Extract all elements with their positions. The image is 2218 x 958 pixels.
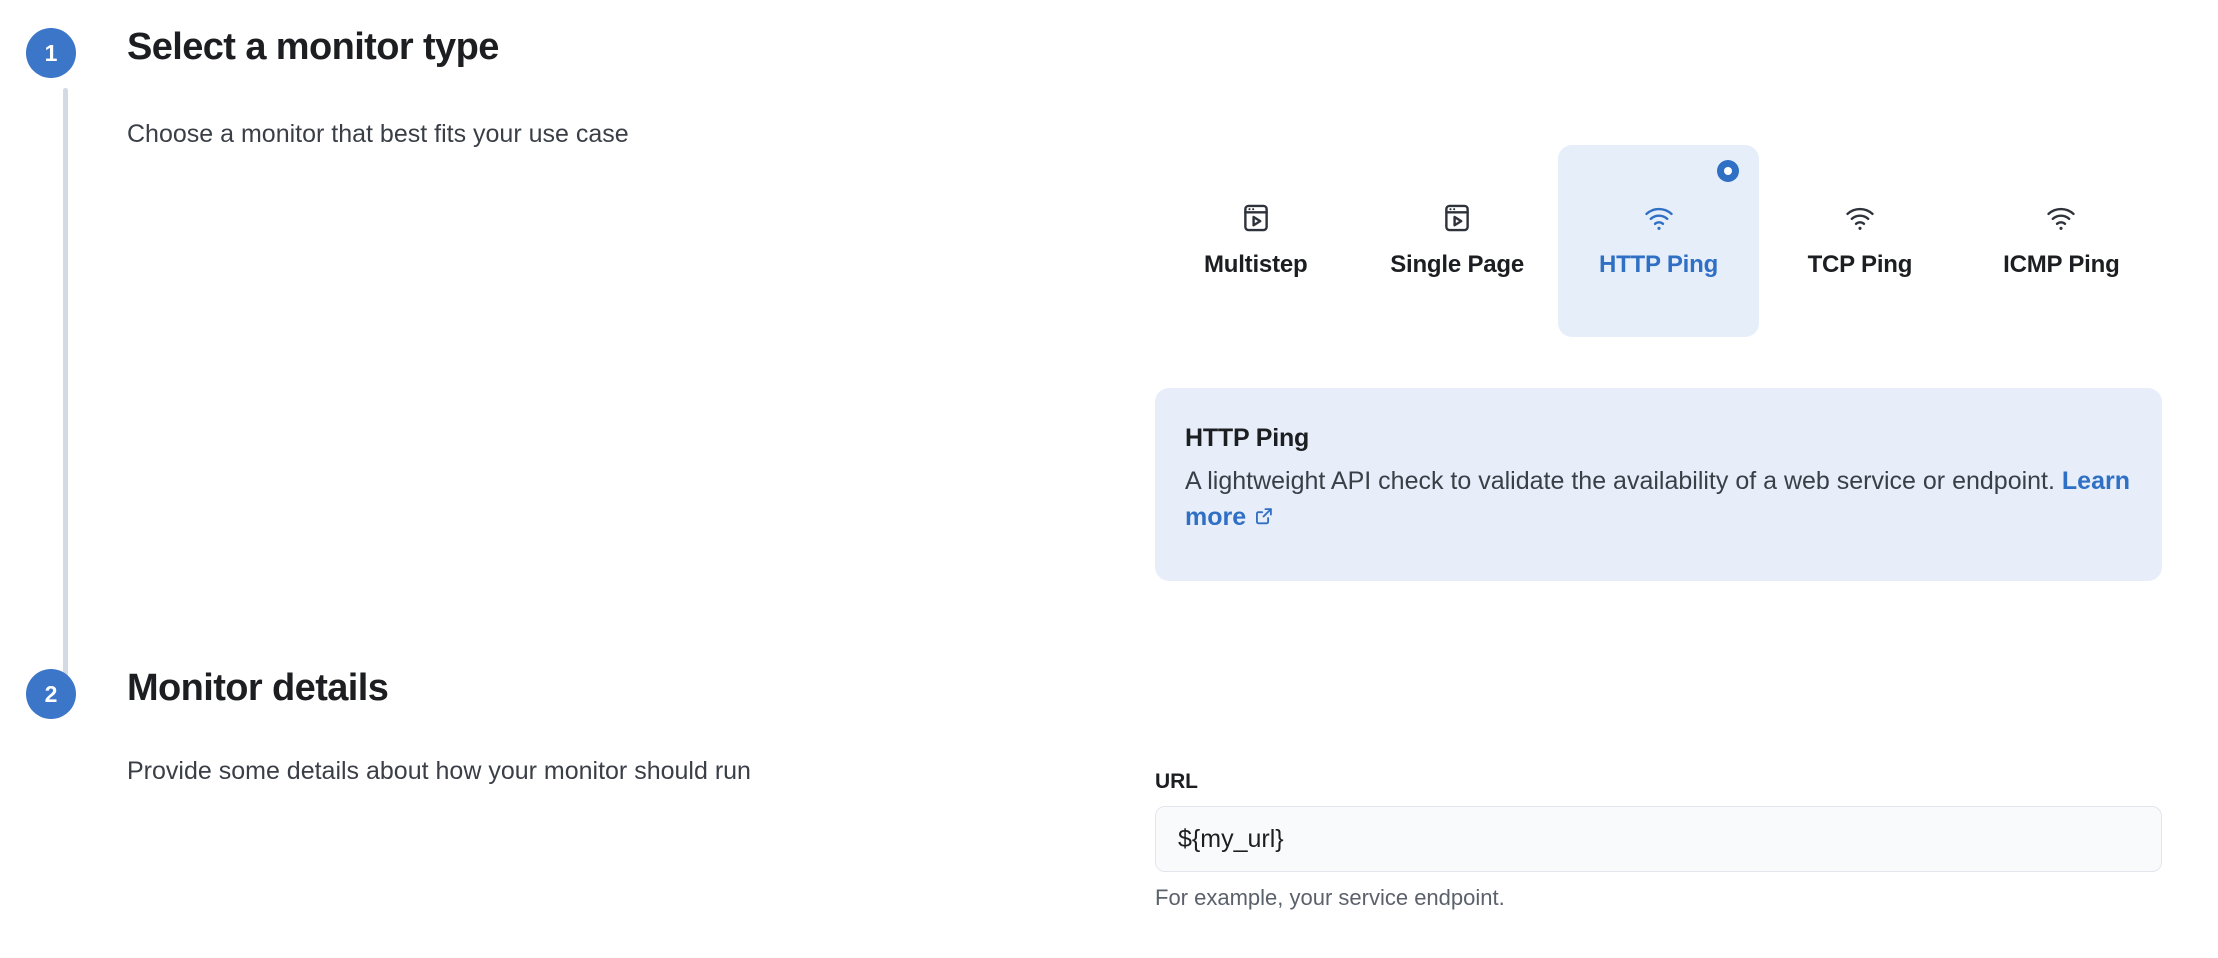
monitor-type-option-single-page[interactable]: Single Page (1356, 145, 1557, 337)
monitor-type-option-tcp-ping[interactable]: TCP Ping (1759, 145, 1960, 337)
step-badge-2: 2 (26, 669, 76, 719)
step-1-description: Choose a monitor that best fits your use… (127, 117, 1127, 152)
info-panel-body-text: A lightweight API check to validate the … (1185, 467, 2062, 495)
wifi-icon (1843, 201, 1877, 235)
step-2-text-column: Monitor details Provide some details abo… (127, 667, 1127, 789)
step-1-text-column: Select a monitor type Choose a monitor t… (127, 26, 1127, 152)
monitor-type-option-http-ping[interactable]: HTTP Ping (1558, 145, 1759, 337)
monitor-type-selector: Multistep Single Page (1155, 145, 2162, 337)
wifi-icon (2044, 201, 2078, 235)
radio-selected-icon[interactable] (1717, 160, 1739, 182)
monitor-type-info-panel: HTTP Ping A lightweight API check to val… (1155, 388, 2162, 581)
info-panel-title: HTTP Ping (1185, 424, 2132, 453)
browser-play-icon (1440, 201, 1474, 235)
monitor-type-label: HTTP Ping (1599, 251, 1718, 279)
url-field-block: URL For example, your service endpoint. (1155, 770, 2162, 911)
info-panel-body: A lightweight API check to validate the … (1185, 464, 2132, 535)
monitor-type-option-multistep[interactable]: Multistep (1155, 145, 1356, 337)
url-input[interactable] (1155, 806, 2162, 872)
url-field-help-text: For example, your service endpoint. (1155, 885, 2162, 911)
monitor-type-label: Single Page (1390, 251, 1524, 279)
stepper-connector-line (63, 88, 68, 678)
create-monitor-wizard: 1 Select a monitor type Choose a monitor… (0, 0, 2218, 958)
step-badge-1: 1 (26, 28, 76, 78)
browser-play-icon (1239, 201, 1273, 235)
monitor-type-option-icmp-ping[interactable]: ICMP Ping (1961, 145, 2162, 337)
wifi-icon (1642, 201, 1676, 235)
page-title: Select a monitor type (127, 26, 1127, 70)
step-2-title: Monitor details (127, 667, 1127, 711)
step-2-description: Provide some details about how your moni… (127, 754, 1127, 789)
monitor-type-label: Multistep (1204, 251, 1308, 279)
url-field-label: URL (1155, 770, 2162, 794)
external-link-icon[interactable] (1253, 502, 1275, 524)
monitor-type-label: TCP Ping (1808, 251, 1913, 279)
monitor-type-label: ICMP Ping (2003, 251, 2119, 279)
